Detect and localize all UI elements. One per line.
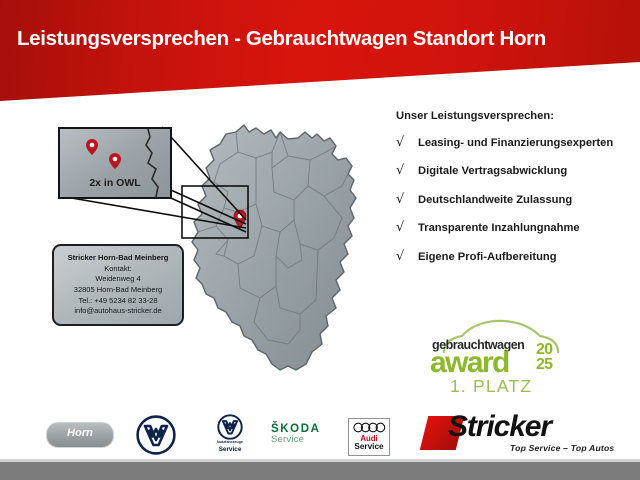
contact-label-kontakt: Kontakt: bbox=[58, 264, 178, 275]
promise-item-3: √ Deutschlandweite Zulassung bbox=[396, 193, 628, 208]
footer-bar bbox=[0, 462, 640, 480]
promise-item-1: √ Leasing- und Finanzierungsexperten bbox=[396, 136, 628, 151]
stricker-wordmark: Stricker bbox=[448, 410, 551, 444]
vw-nutzfahrzeuge-sublabel: Nutzfahrzeuge bbox=[205, 440, 255, 444]
vw-nutzfahrzeuge-logo: Nutzfahrzeuge Service bbox=[205, 414, 255, 458]
vw-nutzfahrzeuge-service-label: Service bbox=[205, 446, 255, 453]
audi-service-logo: Audi Service bbox=[348, 418, 390, 456]
promise-item-label: Transparente Inzahlungnahme bbox=[418, 221, 580, 236]
volkswagen-logo-icon bbox=[136, 415, 176, 455]
check-icon: √ bbox=[396, 136, 418, 151]
audi-service-label: Service bbox=[349, 442, 389, 451]
promise-item-label: Eigene Profi-Aufbereitung bbox=[418, 250, 557, 265]
promise-heading: Unser Leistungsversprechen: bbox=[396, 110, 628, 122]
promise-item-4: √ Transparente Inzahlungnahme bbox=[396, 221, 628, 236]
contact-name: Stricker Horn-Bad Meinberg bbox=[58, 253, 178, 264]
owl-pin-1 bbox=[86, 139, 98, 155]
check-icon: √ bbox=[396, 164, 418, 179]
award-year-bottom: 25 bbox=[536, 357, 552, 372]
skoda-service-logo: ŠKODA Service bbox=[271, 423, 331, 451]
header-band bbox=[0, 0, 640, 102]
skoda-service-label: Service bbox=[271, 434, 331, 445]
contact-email: info@autohaus-stricker.de bbox=[58, 306, 178, 317]
check-icon: √ bbox=[396, 221, 418, 236]
promise-item-label: Digitale Vertragsabwicklung bbox=[418, 164, 567, 179]
stricker-logo: Stricker Top Service – Top Autos bbox=[424, 412, 624, 460]
award-year: 20 25 bbox=[536, 342, 552, 372]
volkswagen-ring-icon bbox=[217, 414, 243, 440]
audi-rings-icon bbox=[353, 422, 387, 433]
promise-item-label: Leasing- und Finanzierungsexperten bbox=[418, 136, 613, 151]
owl-zoom-box: 2x in OWL bbox=[58, 127, 172, 199]
stricker-tagline: Top Service – Top Autos bbox=[510, 443, 614, 453]
award-year-top: 20 bbox=[536, 342, 552, 357]
promise-list: Unser Leistungsversprechen: √ Leasing- u… bbox=[396, 110, 628, 278]
owl-label: 2x in OWL bbox=[60, 177, 170, 189]
promise-item-2: √ Digitale Vertragsabwicklung bbox=[396, 164, 628, 179]
promise-item-5: √ Eigene Profi-Aufbereitung bbox=[396, 250, 628, 265]
slide-canvas: Leistungsversprechen - Gebrauchtwagen St… bbox=[0, 0, 640, 480]
horn-label: Horn bbox=[47, 427, 113, 439]
check-icon: √ bbox=[396, 193, 418, 208]
award-word: award bbox=[430, 348, 509, 378]
contact-street: Weidenweg 4 bbox=[58, 274, 178, 285]
promise-item-label: Deutschlandweite Zulassung bbox=[418, 193, 572, 208]
contact-card: Stricker Horn-Bad Meinberg Kontakt: Weid… bbox=[52, 244, 184, 326]
horn-logo: Horn bbox=[46, 422, 114, 448]
check-icon: √ bbox=[396, 250, 418, 265]
award-badge: gebrauchtwagen award 20 25 1. PLATZ bbox=[424, 318, 574, 398]
contact-phone: Tel.: +49 5234 82 33-28 bbox=[58, 296, 178, 307]
contact-city: 32805 Horn-Bad Meinberg bbox=[58, 285, 178, 296]
owl-pin-2 bbox=[109, 153, 121, 169]
page-title: Leistungsversprechen - Gebrauchtwagen St… bbox=[17, 27, 632, 51]
award-rank: 1. PLATZ bbox=[450, 376, 532, 397]
